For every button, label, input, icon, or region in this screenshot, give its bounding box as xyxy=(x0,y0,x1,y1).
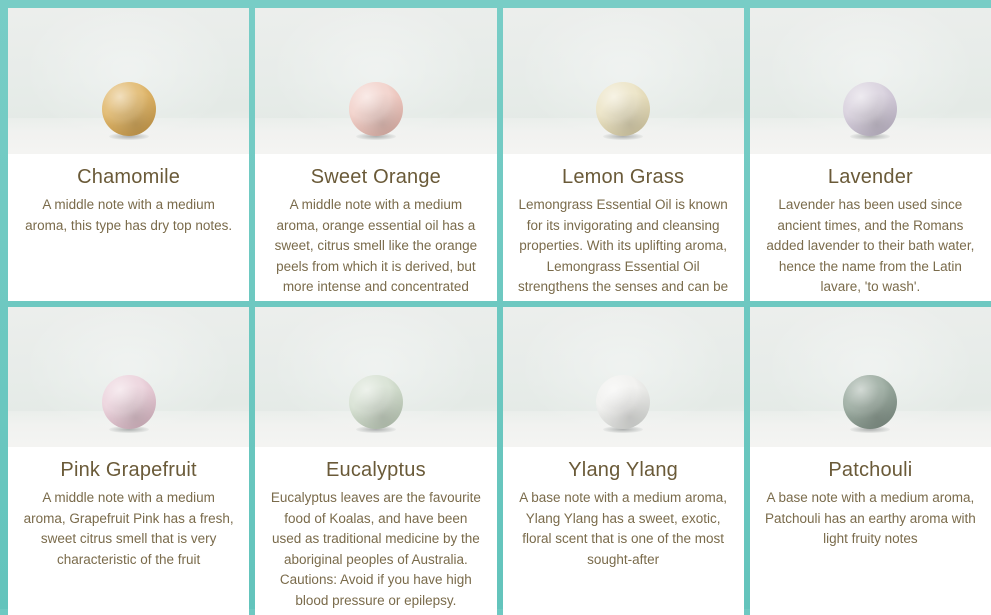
product-title: Ylang Ylang xyxy=(517,457,730,483)
lemon-grass-bath-bomb-photo xyxy=(503,8,744,154)
bath-bomb-body xyxy=(843,82,897,136)
bath-bomb-sphere xyxy=(596,82,650,136)
product-title: Chamomile xyxy=(22,164,235,190)
bath-bomb-body xyxy=(102,82,156,136)
product-title: Patchouli xyxy=(764,457,977,483)
product-title: Pink Grapefruit xyxy=(22,457,235,483)
product-card[interactable]: Ylang YlangA base note with a medium aro… xyxy=(503,307,744,615)
bath-bomb-sphere xyxy=(596,375,650,429)
product-description: A base note with a medium aroma, Ylang Y… xyxy=(517,488,730,570)
bath-bomb-sphere xyxy=(843,375,897,429)
bath-bomb-sphere xyxy=(843,82,897,136)
product-card[interactable]: EucalyptusEucalyptus leaves are the favo… xyxy=(255,307,496,615)
product-card[interactable]: PatchouliA base note with a medium aroma… xyxy=(750,307,991,615)
patchouli-bath-bomb-photo xyxy=(750,307,991,447)
lavender-bath-bomb-photo xyxy=(750,8,991,154)
eucalyptus-bath-bomb-photo xyxy=(255,307,496,447)
sweet-orange-bath-bomb-photo xyxy=(255,8,496,154)
ylang-ylang-bath-bomb-photo xyxy=(503,307,744,447)
product-card-body: ChamomileA middle note with a medium aro… xyxy=(8,154,249,301)
product-card-body: Ylang YlangA base note with a medium aro… xyxy=(503,447,744,615)
product-description: A middle note with a medium aroma, orang… xyxy=(269,195,482,298)
bath-bomb-sphere xyxy=(102,375,156,429)
product-description: Eucalyptus leaves are the favourite food… xyxy=(269,488,482,611)
product-title: Lavender xyxy=(764,164,977,190)
bath-bomb-body xyxy=(349,82,403,136)
product-card[interactable]: Pink GrapefruitA middle note with a medi… xyxy=(8,307,249,615)
bath-bomb-sphere xyxy=(102,82,156,136)
bath-bomb-body xyxy=(843,375,897,429)
product-card[interactable]: LavenderLavender has been used since anc… xyxy=(750,8,991,301)
product-card[interactable]: Lemon GrassLemongrass Essential Oil is k… xyxy=(503,8,744,301)
chamomile-bath-bomb-photo xyxy=(8,8,249,154)
product-card-body: Pink GrapefruitA middle note with a medi… xyxy=(8,447,249,615)
product-description: A middle note with a medium aroma, Grape… xyxy=(22,488,235,570)
product-card[interactable]: Sweet OrangeA middle note with a medium … xyxy=(255,8,496,301)
product-description: A base note with a medium aroma, Patchou… xyxy=(764,488,977,550)
product-card[interactable]: ChamomileA middle note with a medium aro… xyxy=(8,8,249,301)
product-card-body: Lemon GrassLemongrass Essential Oil is k… xyxy=(503,154,744,301)
pink-grapefruit-bath-bomb-photo xyxy=(8,307,249,447)
product-title: Eucalyptus xyxy=(269,457,482,483)
bath-bomb-body xyxy=(349,375,403,429)
product-description: A middle note with a medium aroma, this … xyxy=(22,195,235,236)
bath-bomb-sphere xyxy=(349,82,403,136)
product-card-body: Sweet OrangeA middle note with a medium … xyxy=(255,154,496,301)
bath-bomb-body xyxy=(102,375,156,429)
product-card-body: PatchouliA base note with a medium aroma… xyxy=(750,447,991,615)
bath-bomb-body xyxy=(596,82,650,136)
product-description: Lemongrass Essential Oil is known for it… xyxy=(517,195,730,301)
product-title: Lemon Grass xyxy=(517,164,730,190)
product-title: Sweet Orange xyxy=(269,164,482,190)
product-card-body: EucalyptusEucalyptus leaves are the favo… xyxy=(255,447,496,615)
product-card-grid: ChamomileA middle note with a medium aro… xyxy=(0,0,991,609)
bath-bomb-body xyxy=(596,375,650,429)
product-description: Lavender has been used since ancient tim… xyxy=(764,195,977,298)
bath-bomb-sphere xyxy=(349,375,403,429)
product-card-body: LavenderLavender has been used since anc… xyxy=(750,154,991,301)
